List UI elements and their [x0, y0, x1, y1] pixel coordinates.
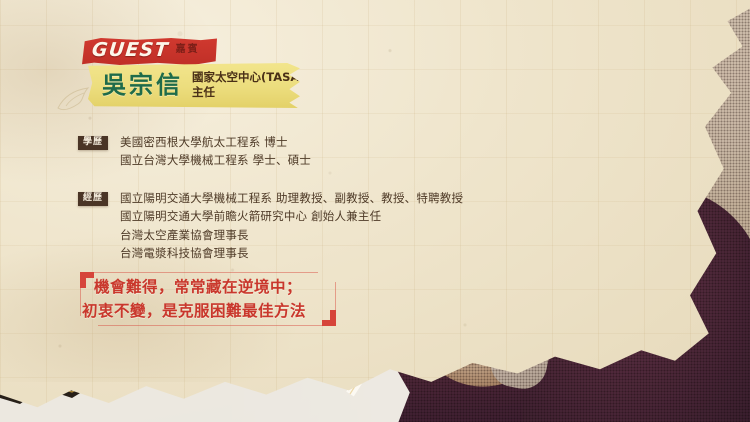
guest-name-banner: 吳宗信 國家太空中心(TASA) 主任 [88, 63, 300, 108]
quote-bracket-bottom-right [322, 310, 336, 326]
guest-name: 吳宗信 [102, 73, 183, 97]
guest-title-line-2: 主任 [192, 85, 215, 99]
list-item: 國立陽明交通大學前瞻火箭研究中心 創始人兼主任 [120, 208, 463, 224]
list-item: 台灣電漿科技協會理事長 [120, 245, 463, 261]
guest-title-line-1: 國家太空中心(TASA) [192, 70, 305, 84]
guest-quote: 機會難得，常常藏在逆境中； 初衷不變，是克服困難最佳方法 [80, 272, 336, 328]
guest-card-stage: GUEST 嘉賓 吳宗信 國家太空中心(TASA) 主任 學歷 美國密西根大學航… [0, 0, 750, 422]
list-item: 美國密西根大學航太工程系 博士 [120, 134, 311, 150]
credential-lines-experience: 國立陽明交通大學機械工程系 助理教授、副教授、教授、特聘教授 國立陽明交通大學前… [120, 190, 463, 261]
credential-block-experience: 經歷 國立陽明交通大學機械工程系 助理教授、副教授、教授、特聘教授 國立陽明交通… [78, 190, 463, 261]
credential-block-education: 學歷 美國密西根大學航太工程系 博士 國立台灣大學機械工程系 學士、碩士 [78, 134, 311, 169]
credential-tag-education: 學歷 [78, 136, 108, 150]
credential-tag-experience: 經歷 [78, 192, 108, 206]
quote-text: 機會難得，常常藏在逆境中； 初衷不變，是克服困難最佳方法 [94, 276, 306, 323]
quote-bracket-top-left [80, 272, 94, 288]
guest-badge: GUEST 嘉賓 [82, 38, 217, 65]
guest-title: 國家太空中心(TASA) 主任 [192, 70, 305, 99]
bird-ornament-icon [54, 82, 92, 116]
list-item: 國立陽明交通大學機械工程系 助理教授、副教授、教授、特聘教授 [120, 190, 463, 206]
quote-line-1: 機會難得，常常藏在逆境中； [94, 276, 306, 298]
quote-line-2: 初衷不變，是克服困難最佳方法 [82, 300, 306, 322]
guest-label: GUEST [91, 41, 170, 60]
credential-lines-education: 美國密西根大學航太工程系 博士 國立台灣大學機械工程系 學士、碩士 [120, 134, 311, 169]
list-item: 國立台灣大學機械工程系 學士、碩士 [120, 152, 311, 168]
list-item: 台灣太空產業協會理事長 [120, 227, 463, 243]
guest-label-chinese: 嘉賓 [176, 45, 200, 56]
